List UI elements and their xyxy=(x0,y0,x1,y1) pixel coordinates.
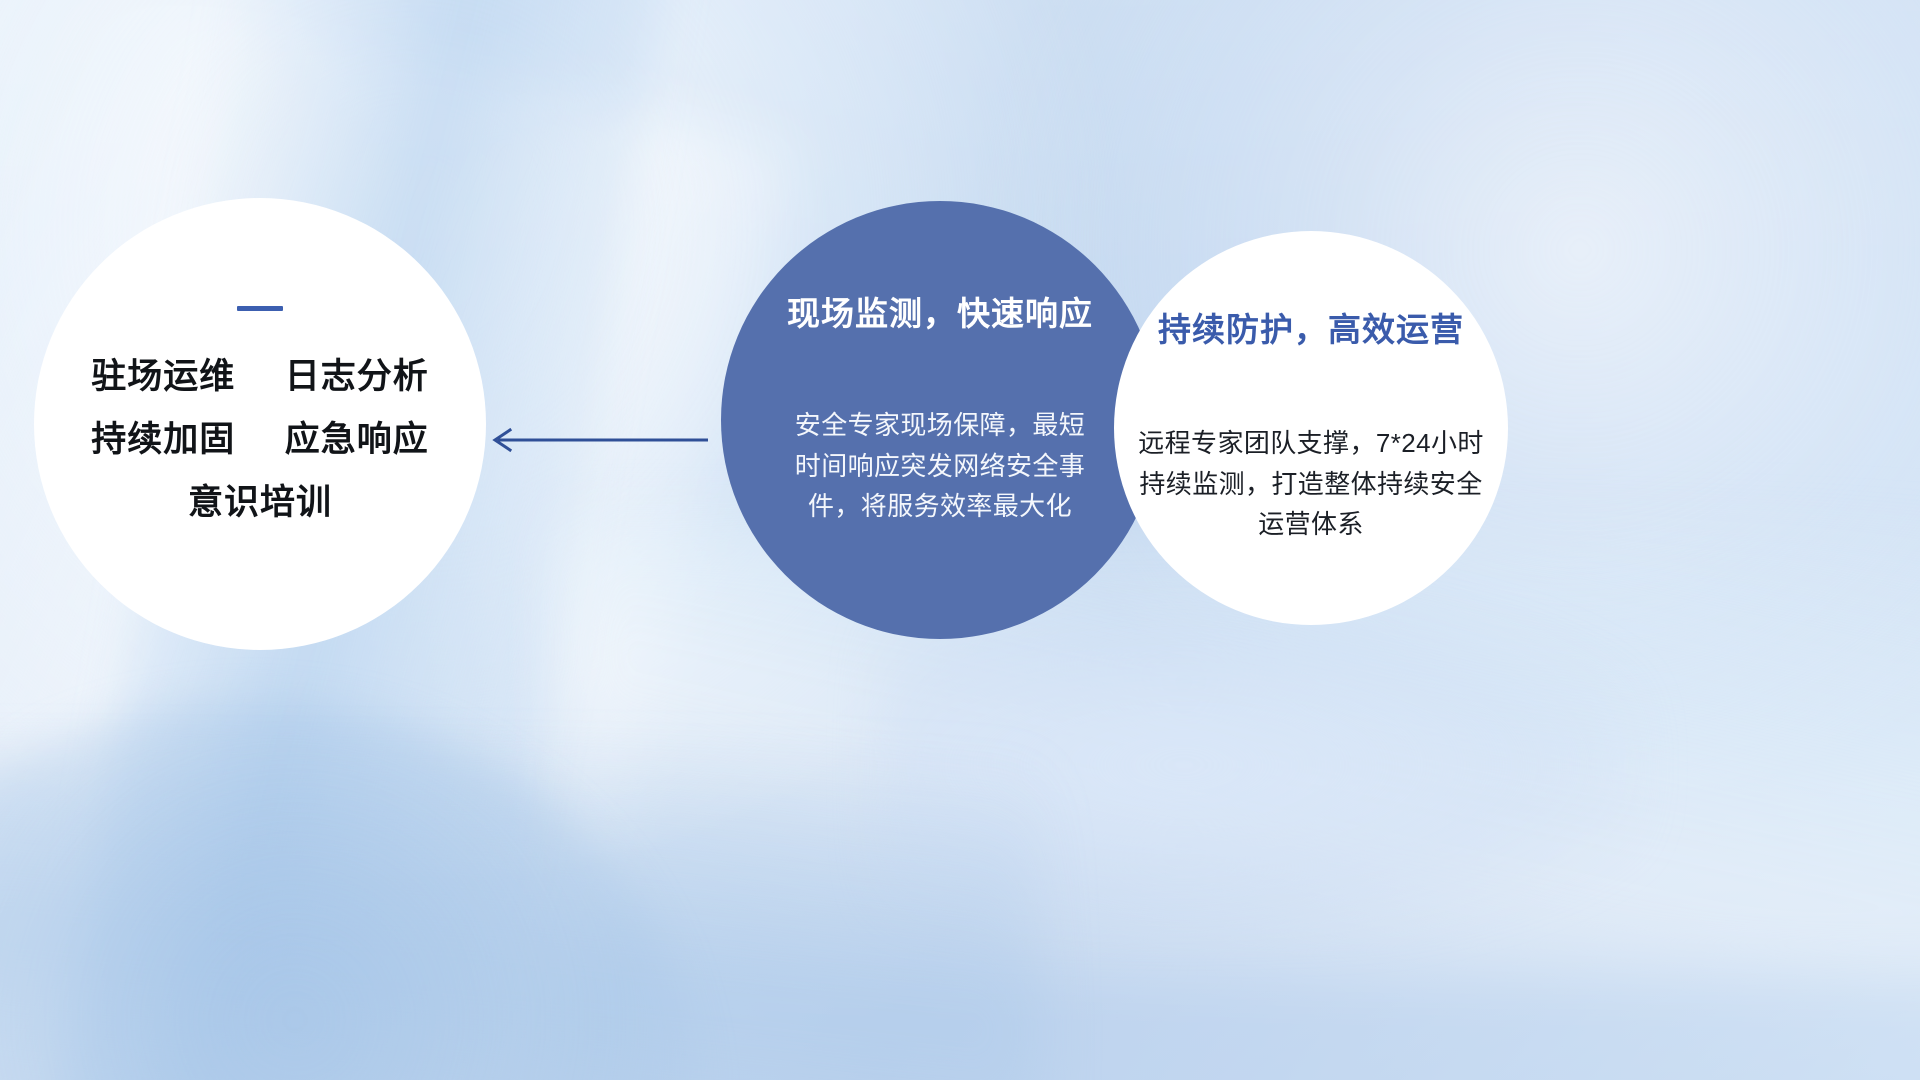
capability-circle-left[interactable]: 驻场运维 日志分析 持续加固 应急响应 意识培训 xyxy=(34,198,486,650)
slide-canvas: 驻场运维 日志分析 持续加固 应急响应 意识培训 现场监测，快速响应 安全专家现… xyxy=(0,0,1920,1080)
keyword-row-2: 持续加固 应急响应 xyxy=(91,422,429,459)
keyword-item-yishipeixun: 意识培训 xyxy=(188,483,332,522)
keyword-item-rizhifenxi: 日志分析 xyxy=(285,357,429,396)
right-circle-title: 持续防护，高效运营 xyxy=(1158,303,1464,351)
keyword-list: 驻场运维 日志分析 持续加固 应急响应 意识培训 xyxy=(91,359,429,521)
middle-circle-body: 安全专家现场保障，最短时间响应突发网络安全事件，将服务效率最大化 xyxy=(794,405,1086,527)
capability-circle-middle[interactable]: 现场监测，快速响应 安全专家现场保障，最短时间响应突发网络安全事件，将服务效率最… xyxy=(721,201,1159,639)
right-circle-body: 远程专家团队支撑，7*24小时持续监测，打造整体持续安全运营体系 xyxy=(1136,423,1486,545)
middle-circle-title: 现场监测，快速响应 xyxy=(787,287,1093,335)
divider-dash-icon xyxy=(237,306,283,311)
keyword-row-1: 驻场运维 日志分析 xyxy=(91,359,429,396)
capability-circle-right[interactable]: 持续防护，高效运营 远程专家团队支撑，7*24小时持续监测，打造整体持续安全运营… xyxy=(1114,231,1508,625)
left-arrow-icon xyxy=(480,418,710,462)
flow-arrow xyxy=(480,418,710,462)
keyword-row-3: 意识培训 xyxy=(188,485,332,522)
keyword-item-zhuchangyunwei: 驻场运维 xyxy=(91,357,235,396)
keyword-item-chixujiagu: 持续加固 xyxy=(91,420,235,459)
keyword-item-yingjixiangying: 应急响应 xyxy=(285,420,429,459)
